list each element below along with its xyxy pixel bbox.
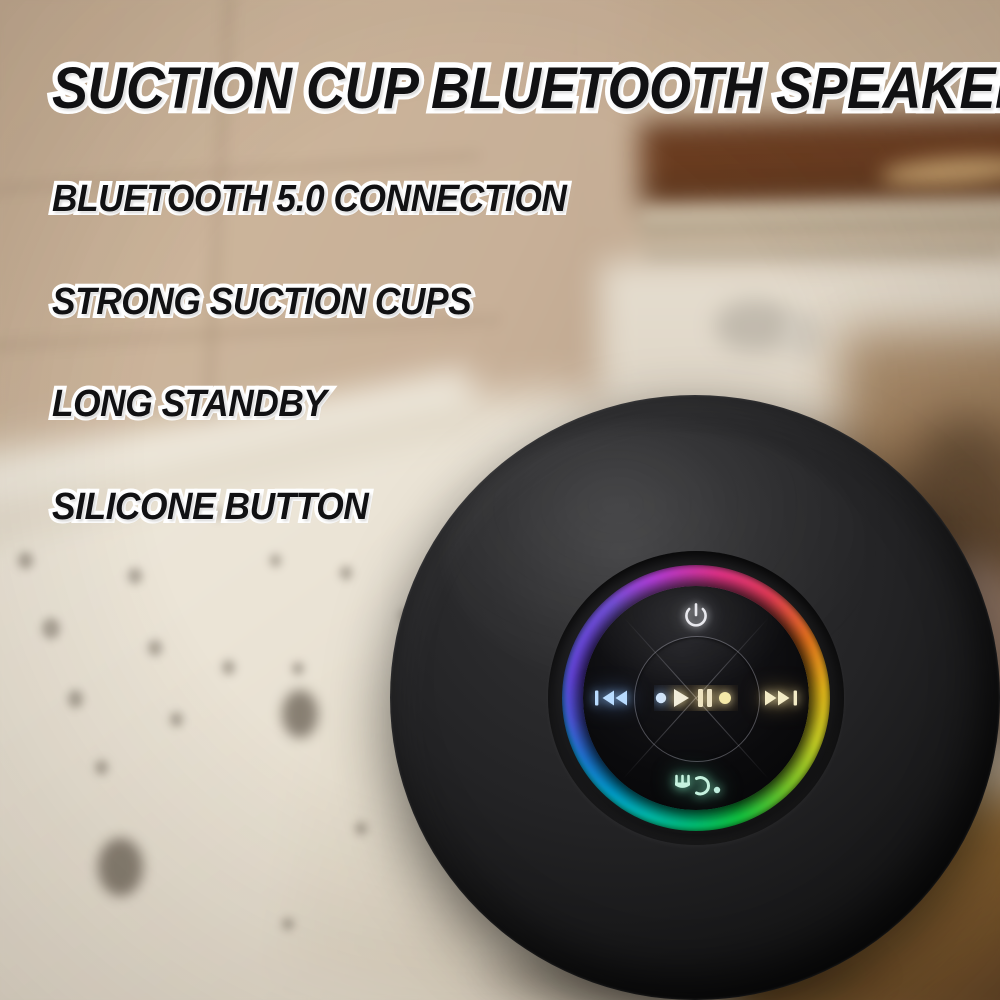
feature-suction-cups: STRONG SUCTION CUPS <box>52 281 471 323</box>
previous-track-icon <box>592 687 632 709</box>
water-droplet <box>355 822 367 835</box>
water-droplet <box>98 838 143 896</box>
product-poster: SUCTION CUP BLUETOOTH SPEAKER BLUETOOTH … <box>0 0 1000 1000</box>
water-droplet <box>95 760 108 775</box>
control-panel[interactable] <box>562 565 830 831</box>
water-droplet <box>270 554 281 567</box>
water-droplet <box>170 712 183 727</box>
background-fixture-blur <box>780 312 824 358</box>
water-droplet <box>148 640 162 656</box>
water-droplet <box>68 690 83 708</box>
feature-bluetooth: BLUETOOTH 5.0 CONNECTION <box>52 178 566 220</box>
water-droplet <box>282 690 318 738</box>
call-icon <box>670 772 728 800</box>
water-droplet <box>292 662 304 675</box>
water-droplet <box>282 918 294 930</box>
next-track-icon <box>760 687 800 709</box>
bluetooth-speaker <box>390 395 1000 1000</box>
call-button[interactable] <box>668 771 730 801</box>
power-icon <box>681 601 711 631</box>
play-pause-button[interactable] <box>653 684 739 712</box>
water-droplet <box>128 568 142 584</box>
water-droplet <box>222 660 235 675</box>
next-track-button[interactable] <box>760 685 800 711</box>
page-title: SUCTION CUP BLUETOOTH SPEAKER <box>52 58 1000 120</box>
feature-silicone-button: SILICONE BUTTON <box>52 486 368 528</box>
background-shelf-edge <box>640 202 1000 239</box>
power-button[interactable] <box>679 599 713 633</box>
water-droplet <box>340 566 352 580</box>
previous-track-button[interactable] <box>592 685 632 711</box>
water-droplet <box>18 552 33 569</box>
feature-standby: LONG STANDBY <box>52 383 327 425</box>
water-droplet <box>42 618 60 639</box>
play-pause-icon <box>654 685 738 711</box>
